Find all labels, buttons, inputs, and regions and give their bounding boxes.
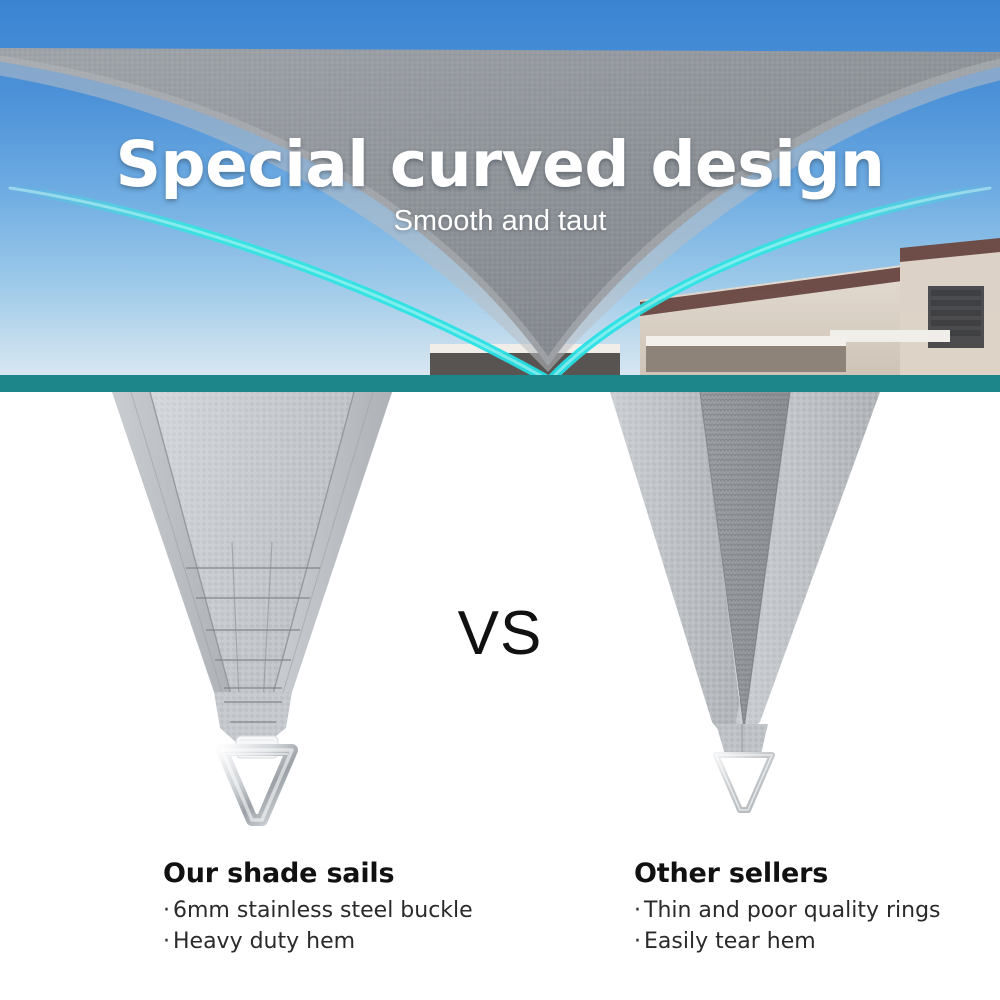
bullet-char: · — [163, 929, 170, 954]
right-heading: Other sellers — [634, 858, 941, 889]
vs-label: VS — [0, 598, 1000, 669]
list-item: ·Easily tear hem — [634, 926, 941, 957]
thin-ring-icon — [716, 755, 772, 810]
bullet-char: · — [634, 929, 641, 954]
right-caption-block: Other sellers ·Thin and poor quality rin… — [634, 858, 941, 957]
list-item-text: Heavy duty hem — [173, 929, 355, 954]
left-heading: Our shade sails — [163, 858, 473, 889]
list-item-text: Thin and poor quality rings — [644, 898, 941, 923]
list-item: ·Heavy duty hem — [163, 926, 473, 957]
bullet-char: · — [634, 898, 641, 923]
teal-divider — [0, 375, 1000, 392]
list-item-text: Easily tear hem — [644, 929, 816, 954]
list-item-text: 6mm stainless steel buckle — [173, 898, 473, 923]
hero-banner: Special curved design Smooth and taut — [0, 0, 1000, 392]
comparison-photos: VS — [0, 392, 1000, 852]
left-bullet-list: ·6mm stainless steel buckle ·Heavy duty … — [163, 895, 473, 957]
right-bullet-list: ·Thin and poor quality rings ·Easily tea… — [634, 895, 941, 957]
list-item: ·Thin and poor quality rings — [634, 895, 941, 926]
list-item: ·6mm stainless steel buckle — [163, 895, 473, 926]
bullet-char: · — [163, 898, 170, 923]
stainless-steel-buckle-icon — [222, 750, 292, 820]
hero-subtitle: Smooth and taut — [0, 205, 1000, 238]
left-caption-block: Our shade sails ·6mm stainless steel buc… — [163, 858, 473, 957]
hero-title: Special curved design — [0, 128, 1000, 201]
product-comparison-image: Special curved design Smooth and taut — [0, 0, 1000, 1000]
